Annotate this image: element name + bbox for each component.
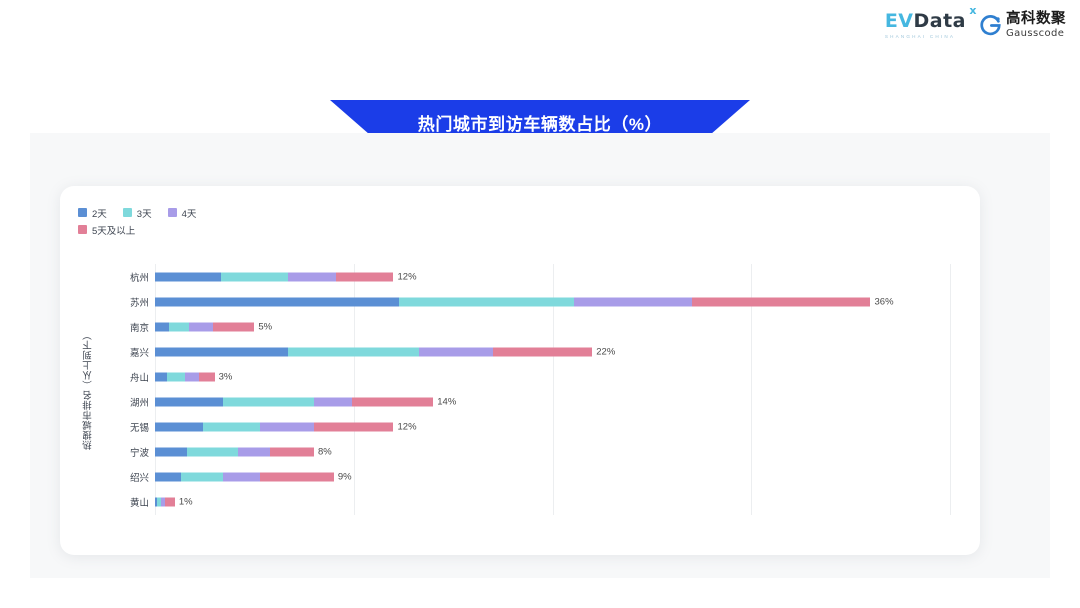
bar-segment-4天[interactable] [419, 347, 493, 356]
stacked-bar[interactable] [155, 297, 871, 306]
bar-value-label: 8% [318, 447, 332, 458]
bar-row[interactable]: 绍兴9% [155, 465, 950, 490]
legend-item-4天[interactable]: 4天 [168, 206, 197, 219]
bar-segment-3天[interactable] [203, 423, 261, 432]
bar-segment-5天及以上[interactable] [314, 423, 393, 432]
bar-value-label: 5% [258, 321, 272, 332]
bar-segment-2天[interactable] [155, 448, 187, 457]
bar-segment-3天[interactable] [167, 372, 185, 381]
evdata-data-text: Data [914, 10, 967, 32]
bar-value-label: 9% [338, 472, 352, 483]
bar-value-label: 22% [596, 346, 615, 357]
bar-row[interactable]: 无锡12% [155, 415, 950, 440]
bar-segment-5天及以上[interactable] [213, 322, 255, 331]
evdata-ev-text: EV [885, 10, 914, 32]
bar-segment-4天[interactable] [574, 297, 691, 306]
y-axis-label-宁波: 宁波 [130, 445, 149, 459]
y-axis-title: 热搜城市排名（从上到下） [82, 330, 96, 450]
legend-swatch-icon [168, 208, 177, 217]
bar-segment-4天[interactable] [314, 398, 352, 407]
legend-label: 2天 [92, 206, 107, 220]
bar-segment-2天[interactable] [155, 372, 167, 381]
evdata-superscript-icon: x [969, 5, 977, 16]
bar-segment-2天[interactable] [155, 398, 223, 407]
bar-segment-3天[interactable] [169, 322, 189, 331]
y-axis-label-黄山: 黄山 [130, 495, 149, 509]
y-axis-label-嘉兴: 嘉兴 [130, 345, 149, 359]
bar-segment-5天及以上[interactable] [336, 272, 394, 281]
legend-swatch-icon [123, 208, 132, 217]
brand-logo-bar: EVDatax SHANGHAI CHINA 高科数聚 Gausscode [885, 12, 1066, 39]
y-axis-label-南京: 南京 [130, 320, 149, 334]
bar-row[interactable]: 湖州14% [155, 390, 950, 415]
evdata-subtitle: SHANGHAI CHINA [885, 34, 955, 39]
bar-segment-4天[interactable] [260, 423, 314, 432]
bar-segment-5天及以上[interactable] [493, 347, 592, 356]
bar-segment-4天[interactable] [185, 372, 199, 381]
stacked-bar[interactable] [155, 372, 215, 381]
bar-value-label: 12% [398, 422, 417, 433]
y-axis-label-舟山: 舟山 [130, 370, 149, 384]
bar-segment-5天及以上[interactable] [199, 372, 215, 381]
bar-value-label: 14% [437, 397, 456, 408]
y-axis-label-绍兴: 绍兴 [130, 470, 149, 484]
legend-label: 5天及以上 [92, 223, 135, 237]
bar-segment-3天[interactable] [221, 272, 289, 281]
gausscode-cn-name: 高科数聚 [1006, 12, 1066, 27]
bar-row[interactable]: 宁波8% [155, 440, 950, 465]
evdata-wordmark: EVDatax [885, 12, 966, 31]
legend-swatch-icon [78, 208, 87, 217]
bar-row[interactable]: 杭州12% [155, 264, 950, 289]
legend-label: 3天 [137, 206, 152, 220]
bar-value-label: 3% [219, 371, 233, 382]
bar-segment-4天[interactable] [189, 322, 213, 331]
stacked-bar[interactable] [155, 272, 394, 281]
evdata-logo: EVDatax SHANGHAI CHINA [885, 12, 966, 39]
bar-segment-4天[interactable] [288, 272, 336, 281]
bar-segment-4天[interactable] [238, 448, 270, 457]
bar-segment-5天及以上[interactable] [260, 473, 334, 482]
legend-item-2天[interactable]: 2天 [78, 206, 107, 219]
stacked-bar[interactable] [155, 322, 254, 331]
bar-segment-3天[interactable] [399, 297, 574, 306]
legend-swatch-icon [78, 225, 87, 234]
y-axis-label-无锡: 无锡 [130, 420, 149, 434]
bar-value-label: 1% [179, 497, 193, 508]
bar-segment-2天[interactable] [155, 297, 399, 306]
page-title: 热门城市到访车辆数占比（%） [418, 110, 663, 135]
bar-segment-4天[interactable] [223, 473, 261, 482]
gausscode-en-name: Gausscode [1006, 29, 1066, 39]
bar-segment-2天[interactable] [155, 423, 203, 432]
chart-legend: 2天3天4天5天及以上 [78, 206, 338, 240]
legend-item-3天[interactable]: 3天 [123, 206, 152, 219]
bar-segment-3天[interactable] [223, 398, 314, 407]
bar-value-label: 36% [875, 296, 894, 307]
stacked-bar[interactable] [155, 448, 314, 457]
grid-line-40 [950, 264, 951, 515]
bar-row[interactable]: 舟山3% [155, 364, 950, 389]
bar-segment-5天及以上[interactable] [352, 398, 433, 407]
stacked-bar[interactable] [155, 398, 433, 407]
plot-area: 杭州12%苏州36%南京5%嘉兴22%舟山3%湖州14%无锡12%宁波8%绍兴9… [155, 264, 950, 515]
bar-row[interactable]: 黄山1% [155, 490, 950, 515]
bar-row[interactable]: 南京5% [155, 314, 950, 339]
y-axis-label-苏州: 苏州 [130, 295, 149, 309]
bar-segment-2天[interactable] [155, 322, 169, 331]
y-axis-label-杭州: 杭州 [130, 270, 149, 284]
bar-segment-3天[interactable] [181, 473, 223, 482]
bar-segment-5天及以上[interactable] [270, 448, 314, 457]
bar-segment-3天[interactable] [288, 347, 419, 356]
bar-segment-5天及以上[interactable] [165, 498, 175, 507]
bar-value-label: 12% [398, 271, 417, 282]
bar-row[interactable]: 嘉兴22% [155, 339, 950, 364]
chart-area: 热搜城市排名（从上到下） 杭州12%苏州36%南京5%嘉兴22%舟山3%湖州14… [82, 264, 960, 515]
bar-segment-2天[interactable] [155, 473, 181, 482]
stacked-bar[interactable] [155, 347, 592, 356]
legend-item-5天及以上[interactable]: 5天及以上 [78, 223, 135, 236]
y-axis-label-湖州: 湖州 [130, 395, 149, 409]
chart-card: 2天3天4天5天及以上 热搜城市排名（从上到下） 杭州12%苏州36%南京5%嘉… [60, 186, 980, 555]
gausscode-text: 高科数聚 Gausscode [1006, 12, 1066, 39]
legend-label: 4天 [182, 206, 197, 220]
gausscode-g-icon [980, 15, 1001, 36]
gausscode-logo: 高科数聚 Gausscode [980, 12, 1066, 39]
bar-row[interactable]: 苏州36% [155, 289, 950, 314]
bar-segment-2天[interactable] [155, 347, 288, 356]
bar-rows: 杭州12%苏州36%南京5%嘉兴22%舟山3%湖州14%无锡12%宁波8%绍兴9… [155, 264, 950, 515]
bar-segment-3天[interactable] [187, 448, 239, 457]
bar-segment-2天[interactable] [155, 272, 221, 281]
bar-segment-5天及以上[interactable] [692, 297, 871, 306]
stacked-bar[interactable] [155, 498, 175, 507]
stacked-bar[interactable] [155, 423, 394, 432]
stacked-bar[interactable] [155, 473, 334, 482]
